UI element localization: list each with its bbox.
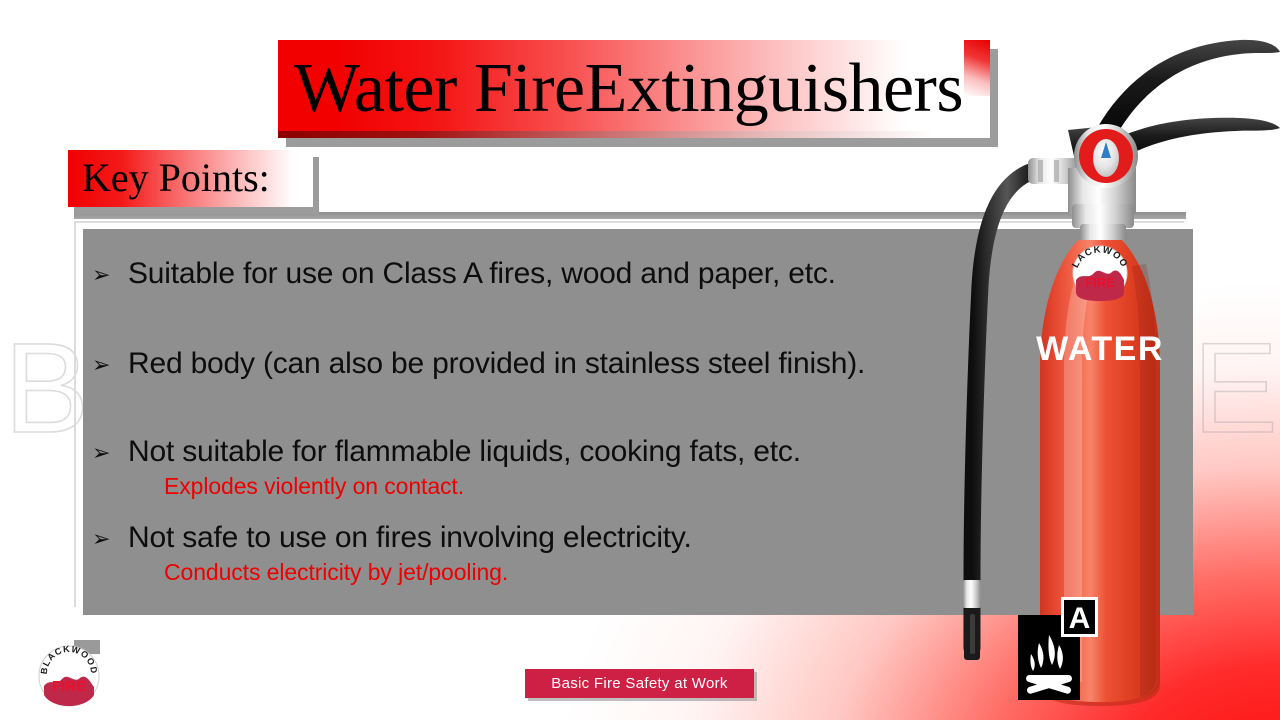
list-item-text: Not suitable for flammable liquids, cook… [128,434,801,470]
bullet-arrow-icon: ➢ [92,520,128,554]
page-title: Water FireExtinguishers [294,44,984,134]
class-a-fire-symbol: A [1018,597,1098,700]
section-heading-text: Key Points: [82,149,482,206]
list-item-text: Suitable for use on Class A fires, wood … [128,256,836,292]
brand-logo: BLACKWOOD FIRE [38,645,100,707]
list-item: ➢ Suitable for use on Class A fires, woo… [92,256,836,292]
bullet-arrow-icon: ➢ [92,346,128,380]
list-item: ➢ Not suitable for flammable liquids, co… [92,434,801,501]
list-item-warning-text: Explodes violently on contact. [164,473,801,501]
key-points-list: ➢ Suitable for use on Class A fires, woo… [92,244,1002,604]
list-item-text: Not safe to use on fires involving elect… [128,520,692,556]
bullet-arrow-icon: ➢ [92,256,128,290]
list-item: ➢ Red body (can also be provided in stai… [92,346,865,382]
class-a-letter: A [1069,602,1091,635]
brand-logo-word: FIRE [52,678,86,695]
bullet-arrow-icon: ➢ [92,434,128,468]
list-item-text: Red body (can also be provided in stainl… [128,346,865,382]
list-item-warning-text: Conducts electricity by jet/pooling. [164,559,692,587]
slide-title-banner: Water FireExtinguishers [278,40,990,138]
list-item: ➢ Not safe to use on fires involving ele… [92,520,692,587]
footer-course-badge: Basic Fire Safety at Work [525,669,754,698]
